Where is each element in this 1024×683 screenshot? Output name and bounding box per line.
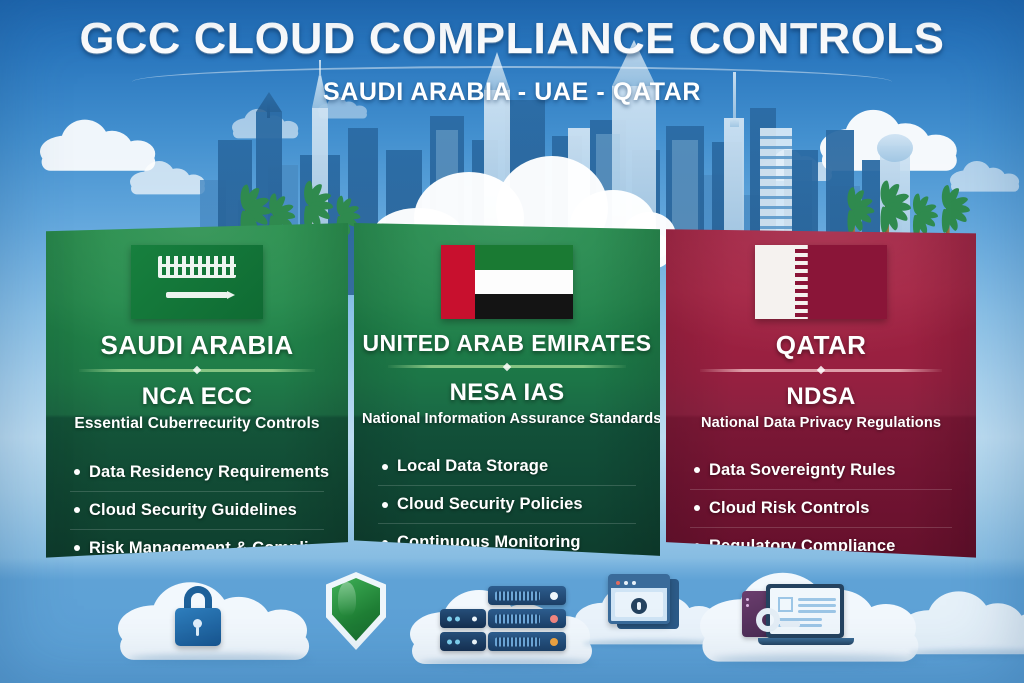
server-unit [488,632,566,651]
palm-frond [942,185,950,209]
bullet-icon [382,502,388,508]
framework-name: National Information Assurance Standards [354,411,660,427]
framework-code: NCA ECC [46,383,348,411]
list-item-label: Risk Management & Compliance [89,539,347,558]
flag-green-band [475,245,573,270]
padlock-keyhole [193,619,202,628]
tablet-dot [746,598,749,601]
list-item-label: Data Sovereignty Rules [709,461,896,480]
list-item: Cloud Risk Controls [684,490,958,527]
list-item: Data Sovereignty Rules [684,452,958,489]
panel-divider [700,369,942,372]
padlock-shackle [184,586,212,610]
palm-frond [847,187,855,210]
palm-frond [304,181,313,206]
browser-titlebar [611,577,667,588]
panel-divider [388,365,627,368]
server-unit-small [440,632,486,651]
control-list: Data Residency Requirements Cloud Securi… [46,454,348,567]
bullet-icon [382,540,388,546]
list-item: Cloud Security Policies [372,486,642,523]
key-icon [756,608,780,632]
control-list: Local Data Storage Cloud Security Polici… [354,448,660,561]
list-item-label: Local Data Storage [397,457,548,476]
bullet-icon [694,505,700,511]
divider-diamond-icon [193,366,201,374]
server-led [472,639,477,644]
display-textline [798,610,836,613]
cloud-shadow [420,658,594,668]
list-item: Continuous Monitoring [372,524,642,561]
tablet-dot [746,604,749,607]
server-led [550,615,558,623]
list-item: Regulatory Compliance [684,528,958,565]
display-thumbnail [778,597,793,612]
cloud-shadow [909,649,1024,658]
server-led [550,592,558,600]
shield-icon [326,572,386,650]
cloud-shadow [712,654,921,666]
country-name: UNITED ARAB EMIRATES [354,331,660,356]
list-item-label: Cloud Security Guidelines [89,501,297,520]
country-name: QATAR [666,331,976,360]
framework-name: Essential Cuberrecurity Controls [46,415,348,433]
display-textline [798,598,836,601]
bullet-icon [74,469,80,475]
browser-window [608,574,670,624]
browser-viewport [615,592,663,617]
palm-frond [337,196,344,216]
server-led [550,638,558,646]
country-panels: SAUDI ARABIA NCA ECC Essential Cuberrecu… [0,223,1024,568]
bullet-icon [694,467,700,473]
laptop-base [758,638,854,645]
panel-saudi-arabia[interactable]: SAUDI ARABIA NCA ECC Essential Cuberrecu… [46,223,348,568]
flag-serrated-edge [795,245,808,319]
saudi-arabia-flag [131,245,263,319]
server-rack-icon [440,586,570,656]
list-item: Cloud Security Guidelines [64,492,330,529]
bottom-icon-band [0,558,1024,683]
padlock-body [175,608,221,646]
framework-name: National Data Privacy Regulations [666,415,976,431]
palm-frond [269,193,277,215]
list-item-label: Data Residency Requirements [89,463,329,482]
shield-highlight [338,582,356,616]
bullet-icon [382,464,388,470]
browser-lock-icon [608,574,680,632]
panel-qatar[interactable]: QATAR NDSA National Data Privacy Regulat… [666,223,976,568]
header: GCC CLOUD COMPLIANCE CONTROLS SAUDI ARAB… [0,0,1024,107]
server-vent [495,637,540,646]
bullet-icon [74,507,80,513]
server-unit-small [440,609,486,628]
list-item: Data Residency Requirements [64,454,330,491]
panel-divider [79,369,315,372]
uae-flag [441,245,573,319]
bullet-icon [74,545,80,551]
cloud-padlock-icon [175,586,231,648]
bullet-icon [694,543,700,549]
divider-diamond-icon [817,366,825,374]
page-title: GCC CLOUD COMPLIANCE CONTROLS [0,16,1024,62]
browser-dot [616,581,620,585]
page-subtitle: SAUDI ARABIA - UAE - QATAR [0,78,1024,107]
list-item-label: Cloud Security Policies [397,495,583,514]
palm-frond [881,181,890,207]
server-vent [495,614,540,623]
infographic-canvas: GCC CLOUD COMPLIANCE CONTROLS SAUDI ARAB… [0,0,1024,683]
framework-code: NESA IAS [354,379,660,407]
panel-united-arab-emirates[interactable]: UNITED ARAB EMIRATES NESA IAS National I… [354,223,660,568]
cloud-shadow [129,654,312,665]
laptop-key-icon [742,578,852,650]
palm-frond [241,185,250,211]
flag-sword [166,292,228,298]
list-item-label: Cloud Risk Controls [709,499,870,518]
list-item: Risk Management & Compliance [64,530,330,567]
divider-diamond-icon [503,363,511,371]
list-item: Local Data Storage [372,448,642,485]
browser-dot [624,581,628,585]
country-name: SAUDI ARABIA [46,331,348,360]
palm-frond [913,193,920,214]
framework-code: NDSA [666,383,976,411]
server-unit [488,586,566,605]
flag-black-band [475,294,573,319]
lock-badge-icon [631,598,647,614]
browser-dot [632,581,636,585]
laptop-display [770,588,840,634]
server-led [447,639,452,644]
server-led [472,616,477,621]
control-list: Data Sovereignty Rules Cloud Risk Contro… [666,452,976,565]
server-led [447,616,452,621]
server-unit [488,609,566,628]
server-vent [495,591,540,600]
display-textline [798,604,836,607]
server-led [455,639,460,644]
cloud-shadow [583,640,722,648]
flag-red-band [441,245,475,319]
qatar-flag [755,245,887,319]
flag-white-band [755,245,797,319]
laptop-screen [766,584,844,638]
server-led [455,616,460,621]
flag-white-band [475,270,573,295]
list-item-label: Regulatory Compliance [709,537,895,556]
flag-shahada-script [158,256,236,278]
list-item-label: Continuous Monitoring [397,533,581,552]
